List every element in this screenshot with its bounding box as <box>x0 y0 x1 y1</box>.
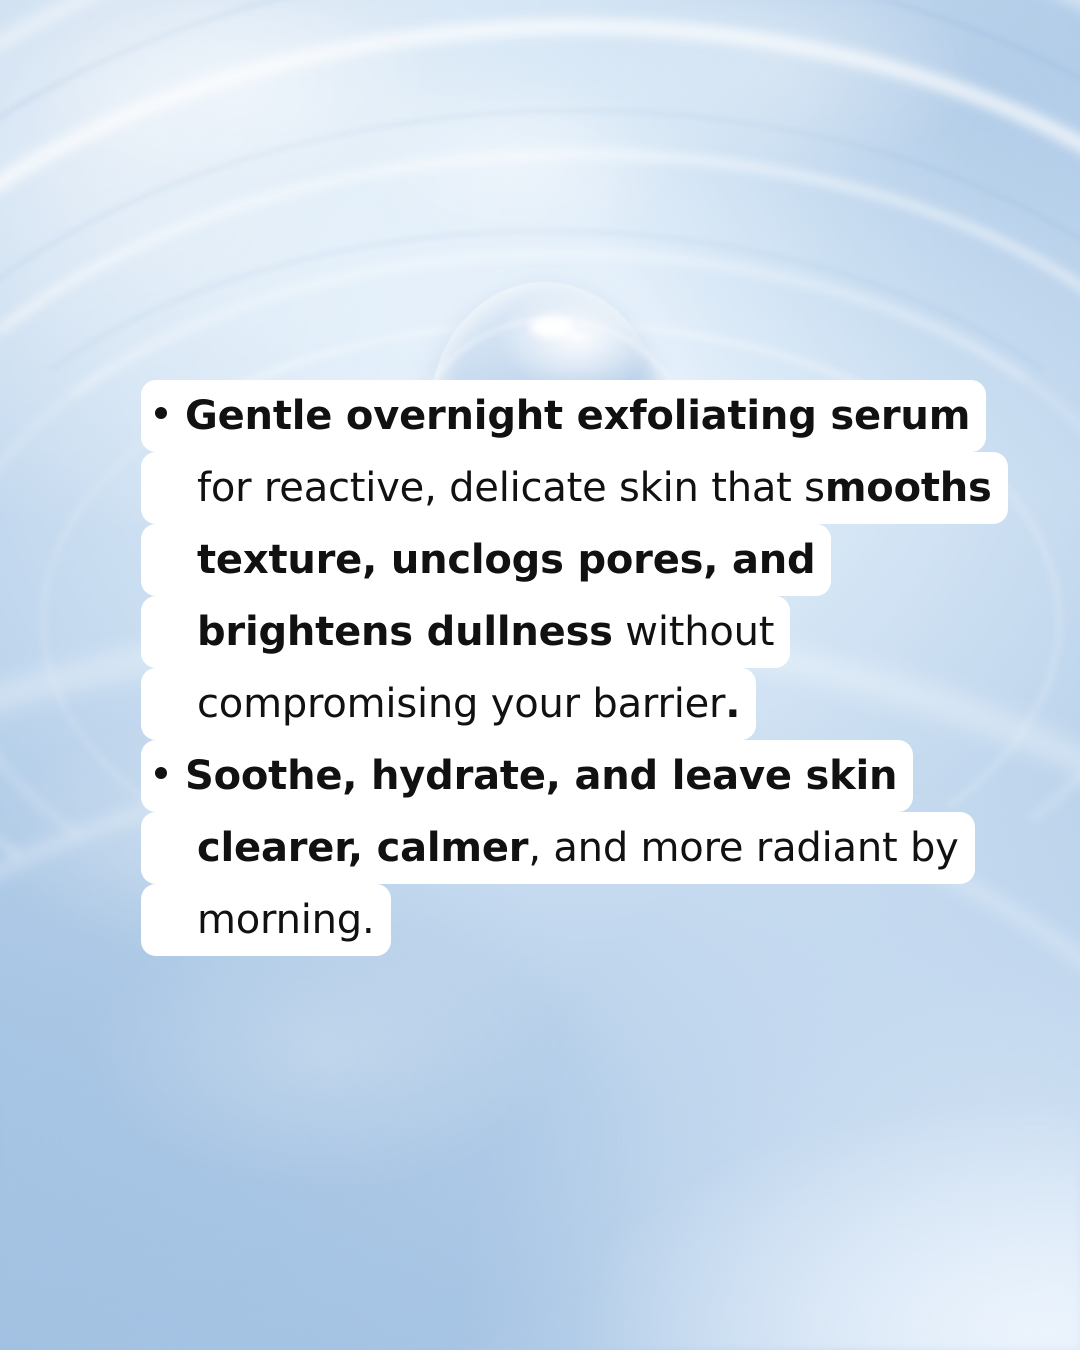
text-run-bold: mooths <box>825 465 992 511</box>
text-line: brightens dullness without <box>141 596 790 668</box>
text-run-regular: without <box>613 609 775 655</box>
bullet-dot-icon <box>155 767 167 779</box>
text-line: for reactive, delicate skin that smooths <box>141 452 1008 524</box>
text-run-regular: , and more radiant by <box>528 825 958 871</box>
benefits-bullet-list: Gentle overnight exfoliating serumfor re… <box>141 380 1041 956</box>
text-line: morning. <box>141 884 391 956</box>
poster-canvas: Gentle overnight exfoliating serumfor re… <box>0 0 1080 1350</box>
text-line: Gentle overnight exfoliating serum <box>141 380 986 452</box>
text-line: Soothe, hydrate, and leave skin <box>141 740 913 812</box>
text-run-regular: morning. <box>197 897 375 943</box>
text-line: compromising your barrier. <box>141 668 756 740</box>
text-run-bold: . <box>725 681 740 727</box>
text-run-bold: Soothe, hydrate, and leave skin <box>185 753 897 799</box>
bullet-dot-icon <box>155 407 167 419</box>
text-run-bold: clearer, calmer <box>197 825 528 871</box>
text-run-bold: Gentle overnight exfoliating serum <box>185 393 970 439</box>
bullet-item: Soothe, hydrate, and leave skinclearer, … <box>141 740 1041 956</box>
text-run-regular: compromising your barrier <box>197 681 725 727</box>
benefits-text-block: Gentle overnight exfoliating serumfor re… <box>141 380 1041 956</box>
text-run-bold: texture, unclogs pores, and <box>197 537 815 583</box>
text-run-regular: for reactive, delicate skin that s <box>197 465 825 511</box>
text-line: texture, unclogs pores, and <box>141 524 831 596</box>
text-run-bold: brightens dullness <box>197 609 613 655</box>
bullet-item: Gentle overnight exfoliating serumfor re… <box>141 380 1041 740</box>
text-line: clearer, calmer, and more radiant by <box>141 812 975 884</box>
